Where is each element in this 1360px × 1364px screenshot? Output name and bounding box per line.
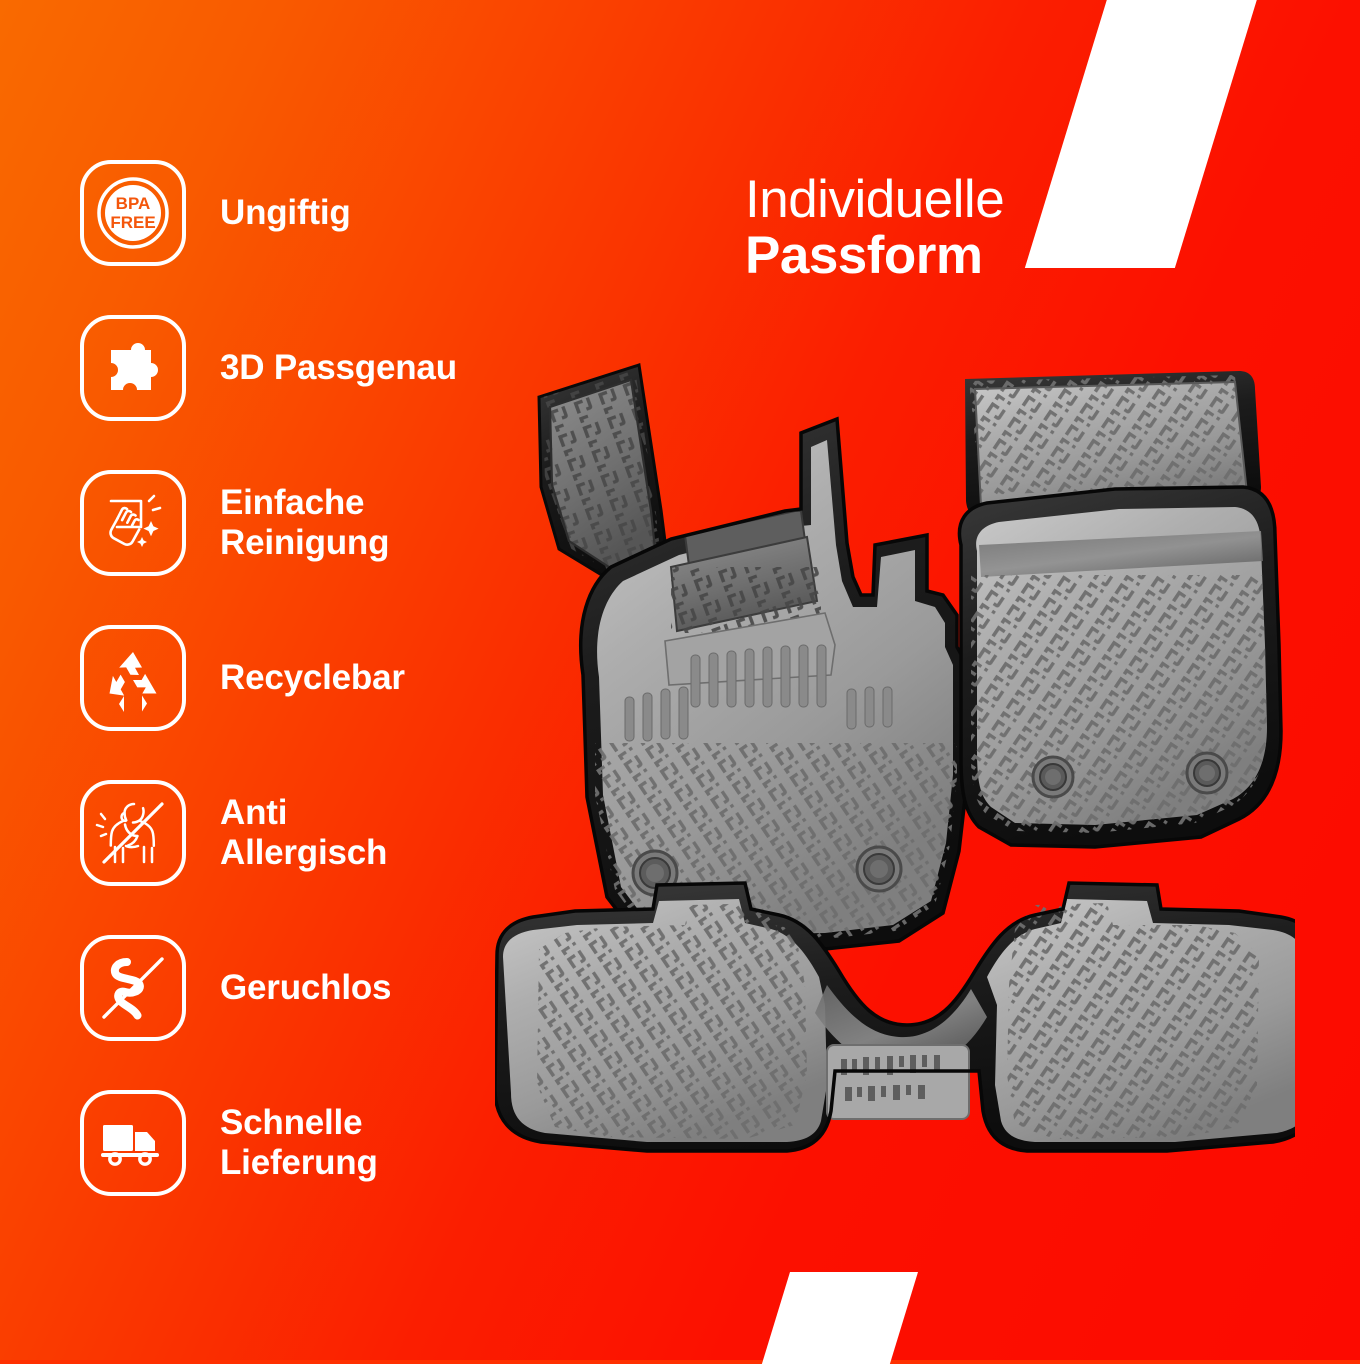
feature-label-geruchlos: Geruchlos (220, 968, 391, 1008)
bpa-badge-line-2: FREE (110, 213, 155, 232)
headline: Individuelle Passform (745, 172, 1004, 284)
feature-item-schnelle-lieferung: Schnelle Lieferung (80, 1090, 550, 1196)
driver-side-mat (535, 365, 975, 951)
recycle-icon (80, 625, 186, 731)
feature-item-geruchlos: Geruchlos (80, 935, 550, 1041)
puzzle-piece-icon (80, 315, 186, 421)
feature-label-3d-passgenau: 3D Passgenau (220, 348, 457, 388)
feature-label-recyclebar: Recyclebar (220, 658, 405, 698)
delivery-truck-icon (80, 1090, 186, 1196)
no-allergy-icon (80, 780, 186, 886)
feature-label-anti-allergisch: Anti Allergisch (220, 793, 387, 873)
headline-line-2: Passform (745, 228, 1004, 284)
cleaning-hand-icon (80, 470, 186, 576)
bpa-free-icon: BPA FREE (80, 160, 186, 266)
feature-label-ungiftig: Ungiftig (220, 193, 351, 233)
feature-item-ungiftig: BPA FREE Ungiftig (80, 160, 550, 266)
feature-item-recyclebar: Recyclebar (80, 625, 550, 731)
product-image-car-floor-mats (495, 345, 1295, 1175)
feature-label-schnelle-lieferung: Schnelle Lieferung (220, 1103, 378, 1183)
no-odor-icon (80, 935, 186, 1041)
mat-grommet (1187, 753, 1227, 793)
bpa-badge-line-1: BPA (116, 194, 151, 213)
feature-list: BPA FREE Ungiftig 3D Passgenau (80, 160, 550, 1196)
passenger-side-mat (959, 371, 1295, 847)
headline-line-1: Individuelle (745, 172, 1004, 228)
feature-label-einfache-reinigung: Einfache Reinigung (220, 483, 389, 563)
mat-grommet (1033, 757, 1073, 797)
feature-item-anti-allergisch: Anti Allergisch (80, 780, 550, 886)
feature-item-einfache-reinigung: Einfache Reinigung (80, 470, 550, 576)
feature-item-3d-passgenau: 3D Passgenau (80, 315, 550, 421)
mat-grommet (857, 847, 901, 891)
